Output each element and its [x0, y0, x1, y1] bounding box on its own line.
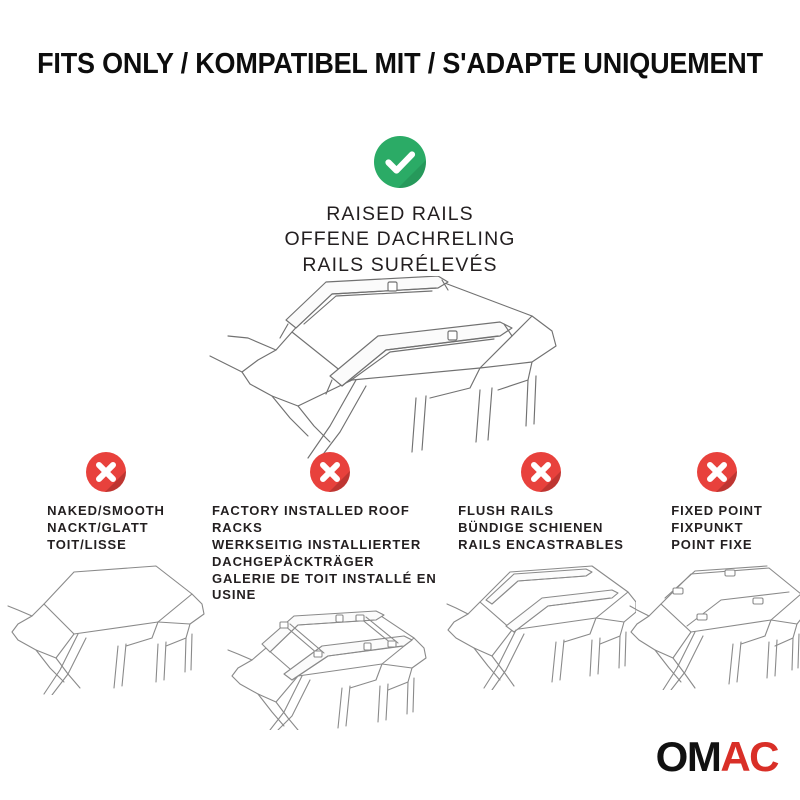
- factory-line-1: FACTORY INSTALLED ROOF RACKS: [212, 503, 448, 537]
- incompatible-caption-factory-racks: FACTORY INSTALLED ROOF RACKS WERKSEITIG …: [212, 503, 448, 604]
- incompatible-item-fixed-point: FIXED POINT FIXPUNKT POINT FIXE: [634, 452, 800, 690]
- check-icon: [374, 136, 426, 188]
- car-roof-raised-rails-illustration: [180, 276, 620, 461]
- car-roof-factory-racks-illustration: [218, 610, 442, 730]
- header: FITS ONLY / KOMPATIBEL MIT / S'ADAPTE UN…: [0, 48, 800, 81]
- car-roof-naked-illustration: [6, 560, 206, 695]
- car-roof-flush-rails-illustration: [446, 560, 636, 690]
- compatible-line-2: OFFENE DACHRELING: [0, 227, 800, 252]
- fixed-line-1: FIXED POINT: [671, 503, 763, 520]
- naked-line-1: NAKED/SMOOTH: [47, 503, 165, 520]
- incompatible-item-flush-rails: FLUSH RAILS BÜNDIGE SCHIENEN RAILS ENCAS…: [448, 452, 634, 690]
- naked-line-2: NACKT/GLATT: [47, 520, 165, 537]
- cross-icon: [521, 452, 561, 492]
- incompatible-caption-flush-rails: FLUSH RAILS BÜNDIGE SCHIENEN RAILS ENCAS…: [458, 503, 624, 554]
- incompatible-section: NAKED/SMOOTH NACKT/GLATT TOIT/LISSE: [0, 452, 800, 730]
- fixed-line-3: POINT FIXE: [671, 537, 763, 554]
- flush-line-1: FLUSH RAILS: [458, 503, 624, 520]
- naked-line-3: TOIT/LISSE: [47, 537, 165, 554]
- factory-line-4: GALERIE DE TOIT INSTALLÉ EN USINE: [212, 571, 448, 605]
- incompatible-item-factory-racks: FACTORY INSTALLED ROOF RACKS WERKSEITIG …: [212, 452, 448, 730]
- car-roof-fixed-point-illustration: [629, 560, 800, 690]
- factory-line-3: DACHGEPÄCKTRÄGER: [212, 554, 448, 571]
- compatible-line-3: RAILS SURÉLEVÉS: [0, 253, 800, 278]
- flush-line-3: RAILS ENCASTRABLES: [458, 537, 624, 554]
- page-title: FITS ONLY / KOMPATIBEL MIT / S'ADAPTE UN…: [28, 48, 772, 81]
- compatible-section: RAISED RAILS OFFENE DACHRELING RAILS SUR…: [0, 136, 800, 278]
- flush-line-2: BÜNDIGE SCHIENEN: [458, 520, 624, 537]
- compatible-line-1: RAISED RAILS: [0, 202, 800, 227]
- fixed-line-2: FIXPUNKT: [671, 520, 763, 537]
- factory-line-2: WERKSEITIG INSTALLIERTER: [212, 537, 448, 554]
- logo-text-ac: AC: [720, 733, 778, 780]
- cross-icon: [310, 452, 350, 492]
- cross-icon: [697, 452, 737, 492]
- incompatible-caption-naked: NAKED/SMOOTH NACKT/GLATT TOIT/LISSE: [47, 503, 165, 554]
- compatible-caption: RAISED RAILS OFFENE DACHRELING RAILS SUR…: [0, 202, 800, 278]
- incompatible-item-naked: NAKED/SMOOTH NACKT/GLATT TOIT/LISSE: [0, 452, 212, 695]
- logo-text-om: OM: [656, 733, 721, 780]
- incompatible-caption-fixed-point: FIXED POINT FIXPUNKT POINT FIXE: [671, 503, 763, 554]
- cross-icon: [86, 452, 126, 492]
- omac-logo: OMAC: [656, 736, 778, 778]
